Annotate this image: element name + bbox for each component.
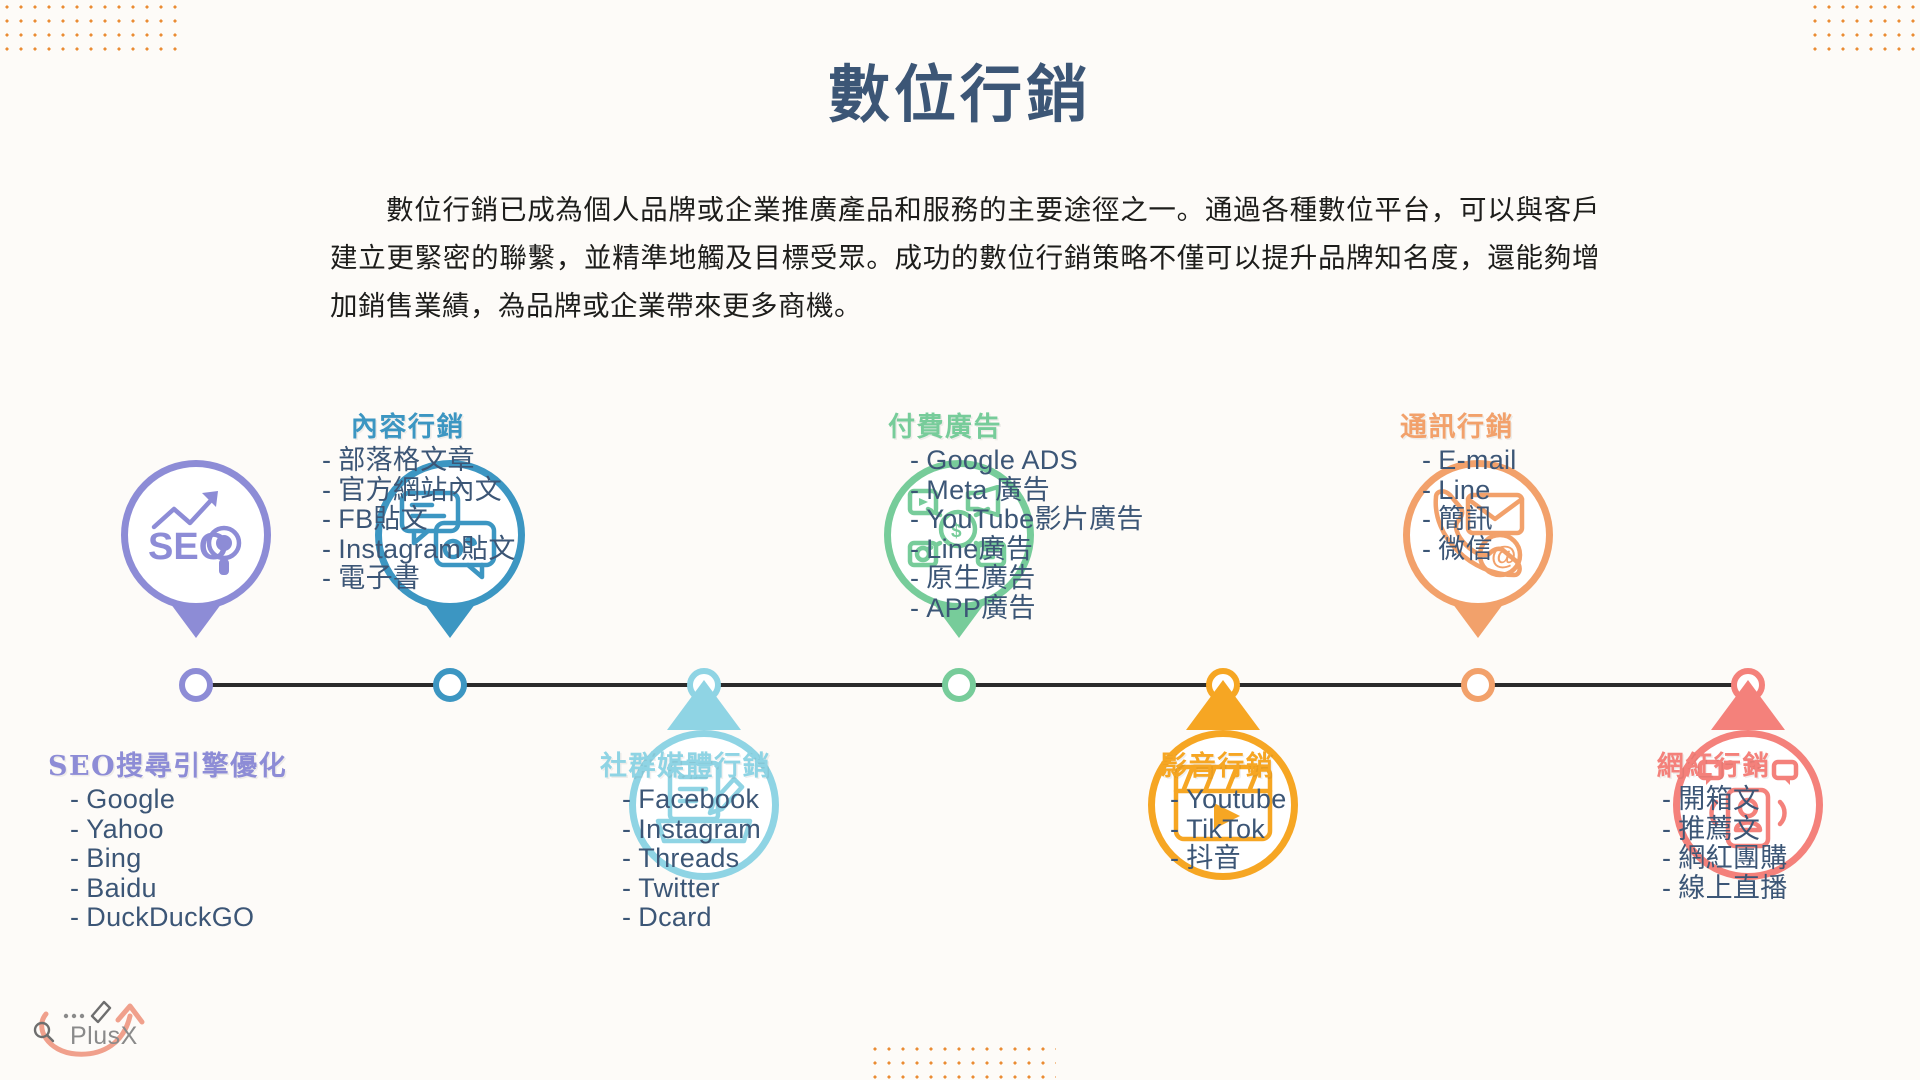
bullet-dash: - (622, 843, 631, 873)
bullet-dash: - (910, 563, 919, 593)
list-item: -網紅團購 (1662, 844, 1788, 874)
bullet-dash: - (1422, 504, 1431, 534)
list-item: -YouTube影片廣告 (910, 505, 1144, 535)
bullet-dash: - (322, 534, 331, 564)
heading-social-media-marketing: 社群媒體行銷 (600, 744, 771, 783)
list-item-label: TikTok (1186, 814, 1265, 844)
list-item: -部落格文章 (322, 446, 516, 476)
list-item-label: Meta 廣告 (926, 475, 1050, 505)
list-item: -Line (1422, 476, 1517, 506)
text-block-video-marketing: 影音行銷-Youtube-TikTok-抖音 (1148, 744, 1287, 874)
list-video-marketing: -Youtube-TikTok-抖音 (1148, 785, 1287, 874)
timeline-node-messaging-marketing[interactable] (1461, 668, 1495, 702)
list-item: -Twitter (622, 874, 771, 904)
list-item-label: 網紅團購 (1678, 843, 1787, 873)
timeline-node-seo[interactable] (179, 668, 213, 702)
list-item-label: Google ADS (926, 445, 1078, 475)
bullet-dash: - (1422, 534, 1431, 564)
decor-dot-grid-top-right (1808, 0, 1920, 58)
list-item-label: 微信 (1438, 534, 1493, 564)
list-item-label: FB貼文 (338, 504, 428, 534)
bullet-dash: - (322, 475, 331, 505)
bullet-dash: - (70, 784, 79, 814)
bullet-dash: - (1170, 814, 1179, 844)
list-influencer-marketing: -開箱文-推薦文-網紅團購-線上直播 (1640, 785, 1788, 903)
bullet-dash: - (910, 504, 919, 534)
pin-tail-video-marketing (1186, 680, 1260, 730)
list-item: -原生廣告 (910, 564, 1144, 594)
list-item-label: Bing (86, 843, 141, 873)
list-item-label: Line (1438, 475, 1490, 505)
decor-dot-grid-bottom-center (868, 1042, 1056, 1080)
list-item: -APP廣告 (910, 594, 1144, 624)
list-item-label: Instagram貼文 (338, 534, 515, 564)
list-item: -線上直播 (1662, 874, 1788, 904)
list-item: -開箱文 (1662, 785, 1788, 815)
bullet-dash: - (1170, 784, 1179, 814)
list-seo: -Google-Yahoo-Bing-Baidu-DuckDuckGO (48, 785, 287, 933)
bullet-dash: - (70, 902, 79, 932)
bullet-dash: - (70, 843, 79, 873)
heading-influencer-marketing: 網紅行銷 (1640, 744, 1788, 783)
text-block-content-marketing: 內容行銷-部落格文章-官方網站內文-FB貼文-Instagram貼文-電子書 (300, 405, 516, 594)
decor-dot-grid-top-left (0, 0, 186, 58)
list-item: -電子書 (322, 564, 516, 594)
text-block-influencer-marketing: 網紅行銷-開箱文-推薦文-網紅團購-線上直播 (1640, 744, 1788, 903)
list-paid-ads: -Google ADS-Meta 廣告-YouTube影片廣告-Line廣告-原… (888, 446, 1144, 623)
heading-content-marketing: 內容行銷 (300, 405, 516, 444)
list-item: -FB貼文 (322, 505, 516, 535)
bullet-dash: - (1422, 445, 1431, 475)
heading-seo: SEO搜尋引擎優化 (48, 744, 287, 783)
bullet-dash: - (910, 475, 919, 505)
list-item-label: APP廣告 (926, 593, 1036, 623)
bullet-dash: - (322, 563, 331, 593)
list-item-label: 原生廣告 (926, 563, 1035, 593)
plusx-logo: PlusX (18, 980, 158, 1064)
logo-text: PlusX (70, 1022, 138, 1051)
list-item-label: 抖音 (1186, 843, 1241, 873)
list-item-label: Dcard (638, 902, 712, 932)
list-item: -Meta 廣告 (910, 476, 1144, 506)
pin-tail-social-media-marketing (667, 680, 741, 730)
list-item: -Yahoo (70, 815, 287, 845)
timeline-node-content-marketing[interactable] (433, 668, 467, 702)
list-item: -Threads (622, 844, 771, 874)
list-item-label: 簡訊 (1438, 504, 1493, 534)
bullet-dash: - (70, 873, 79, 903)
list-item-label: Instagram (638, 814, 761, 844)
bullet-dash: - (910, 593, 919, 623)
text-block-social-media-marketing: 社群媒體行銷-Facebook-Instagram-Threads-Twitte… (600, 744, 771, 933)
list-social-media-marketing: -Facebook-Instagram-Threads-Twitter-Dcar… (600, 785, 771, 933)
bullet-dash: - (622, 873, 631, 903)
list-item-label: 部落格文章 (338, 445, 475, 475)
pin-circle-seo: SEO (121, 460, 271, 610)
list-item: -E-mail (1422, 446, 1517, 476)
list-item: -DuckDuckGO (70, 903, 287, 933)
bullet-dash: - (1662, 843, 1671, 873)
list-item-label: 電子書 (338, 563, 420, 593)
heading-paid-ads: 付費廣告 (888, 405, 1144, 444)
bullet-dash: - (622, 902, 631, 932)
text-block-seo: SEO搜尋引擎優化-Google-Yahoo-Bing-Baidu-DuckDu… (48, 744, 287, 933)
bullet-dash: - (1422, 475, 1431, 505)
list-item: -抖音 (1170, 844, 1287, 874)
list-item-label: Line廣告 (926, 534, 1033, 564)
pin-tail-influencer-marketing (1711, 680, 1785, 730)
list-item: -簡訊 (1422, 505, 1517, 535)
list-item: -Instagram (622, 815, 771, 845)
list-item-label: 官方網站內文 (338, 475, 502, 505)
list-item: -Google (70, 785, 287, 815)
list-item: -Youtube (1170, 785, 1287, 815)
intro-paragraph: 數位行銷已成為個人品牌或企業推廣產品和服務的主要途徑之一。通過各種數位平台，可以… (330, 186, 1600, 330)
bullet-dash: - (1170, 843, 1179, 873)
heading-messaging-marketing: 通訊行銷 (1400, 405, 1517, 444)
list-item-label: Baidu (86, 873, 157, 903)
list-item-label: Yahoo (86, 814, 164, 844)
bullet-dash: - (70, 814, 79, 844)
seo-magnifier-chart-icon: SEO (144, 483, 248, 588)
heading-video-marketing: 影音行銷 (1148, 744, 1287, 783)
list-item-label: Youtube (1186, 784, 1286, 814)
list-item-label: Threads (638, 843, 739, 873)
list-item: -Baidu (70, 874, 287, 904)
bullet-dash: - (910, 534, 919, 564)
bullet-dash: - (1662, 784, 1671, 814)
list-item-label: 開箱文 (1678, 784, 1760, 814)
list-item: -推薦文 (1662, 815, 1788, 845)
list-item-label: Google (86, 784, 175, 814)
list-item: -Line廣告 (910, 535, 1144, 565)
list-item: -微信 (1422, 535, 1517, 565)
bullet-dash: - (1662, 814, 1671, 844)
bullet-dash: - (622, 814, 631, 844)
bullet-dash: - (322, 445, 331, 475)
list-item-label: DuckDuckGO (86, 902, 254, 932)
list-item: -Dcard (622, 903, 771, 933)
list-item: -Google ADS (910, 446, 1144, 476)
bullet-dash: - (322, 504, 331, 534)
text-block-paid-ads: 付費廣告-Google ADS-Meta 廣告-YouTube影片廣告-Line… (888, 405, 1144, 623)
bullet-dash: - (622, 784, 631, 814)
timeline-node-paid-ads[interactable] (942, 668, 976, 702)
list-item-label: E-mail (1438, 445, 1516, 475)
list-item-label: 推薦文 (1678, 814, 1760, 844)
list-item: -Facebook (622, 785, 771, 815)
text-block-messaging-marketing: 通訊行銷-E-mail-Line-簡訊-微信 (1400, 405, 1517, 564)
list-messaging-marketing: -E-mail-Line-簡訊-微信 (1400, 446, 1517, 564)
list-item-label: Facebook (638, 784, 759, 814)
list-item-label: 線上直播 (1678, 873, 1787, 903)
pin-seo[interactable]: SEO (121, 460, 271, 610)
list-item-label: Twitter (638, 873, 720, 903)
list-item: -Instagram貼文 (322, 535, 516, 565)
list-item: -TikTok (1170, 815, 1287, 845)
list-item: -官方網站內文 (322, 476, 516, 506)
page-title: 數位行銷 (0, 64, 1920, 126)
list-content-marketing: -部落格文章-官方網站內文-FB貼文-Instagram貼文-電子書 (300, 446, 516, 594)
list-item-label: YouTube影片廣告 (926, 504, 1143, 534)
bullet-dash: - (910, 445, 919, 475)
list-item: -Bing (70, 844, 287, 874)
bullet-dash: - (1662, 873, 1671, 903)
